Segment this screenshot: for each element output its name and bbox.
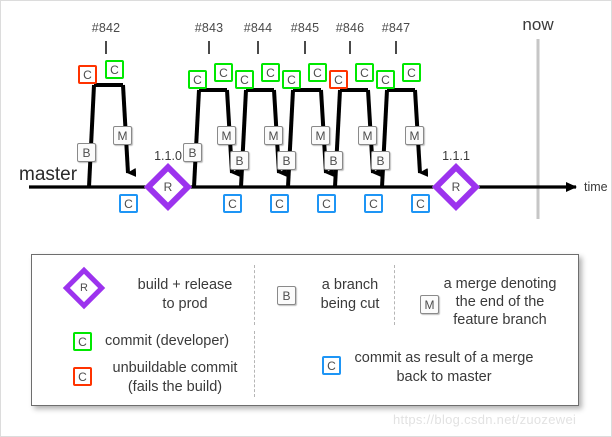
purple-diamond-letter: R [80,282,88,294]
branch-cut-node[interactable]: B [230,151,249,170]
branch-cut-node[interactable]: B [324,151,343,170]
commit-node[interactable]: C [308,63,327,82]
master-merge-commit[interactable]: C [223,194,242,213]
commit-node[interactable]: C [282,70,301,89]
merge-node[interactable]: M [358,126,377,145]
build-tick-843 [208,41,210,54]
commit-node[interactable]: C [188,70,207,89]
merge-node[interactable]: M [264,126,283,145]
master-merge-commit[interactable]: C [317,194,336,213]
merge-node[interactable]: M [405,126,424,145]
build-label-847: #847 [382,21,411,35]
branch-cut-node[interactable]: B [183,143,202,162]
commit-node[interactable]: C [214,63,233,82]
legend-label-merge-commit-line1: commit as result of a merge [324,350,564,367]
master-merge-commit[interactable]: C [119,194,138,213]
legend-label-branch-line1: a branch [290,277,410,294]
commit-node[interactable]: C [105,60,124,79]
diagram-canvas: #842 #843 #844 #845 #846 #847 now [0,0,612,437]
master-merge-commit[interactable]: C [364,194,383,213]
legend-label-release-line1: build + release [105,277,265,294]
commit-node-unbuildable[interactable]: C [329,70,348,89]
build-tick-847 [395,41,397,54]
release-letter: R [452,180,461,194]
branch-cut-node[interactable]: B [371,151,390,170]
legend-label-merge-line3: feature branch [405,312,595,329]
legend-label-unbuildable-line2: (fails the build) [85,379,265,396]
build-label-842: #842 [92,21,121,35]
legend-panel: R build + release to prod C commit (deve… [31,254,579,406]
legend-label-merge-line2: the end of the [405,294,595,311]
commit-node-unbuildable[interactable]: C [78,65,97,84]
green-commit-icon: C [73,332,92,351]
legend-label-release-line2: to prod [105,296,265,313]
commit-node[interactable]: C [355,63,374,82]
merge-node[interactable]: M [113,126,132,145]
now-label: now [522,15,553,35]
watermark: https://blog.csdn.net/zuozewei [393,412,576,427]
build-tick-845 [304,41,306,54]
commit-node[interactable]: C [402,63,421,82]
build-tick-844 [257,41,259,54]
commit-node[interactable]: C [261,63,280,82]
merge-node[interactable]: M [311,126,330,145]
now-line [537,39,540,219]
legend-label-commit: commit (developer) [105,333,229,350]
time-axis-label: time [584,180,608,194]
branch-cut-node[interactable]: B [77,143,96,162]
build-label-844: #844 [244,21,273,35]
merge-node[interactable]: M [217,126,236,145]
build-label-843: #843 [195,21,224,35]
release-version-label: 1.1.1 [442,149,470,163]
legend-label-branch-line2: being cut [290,296,410,313]
master-merge-commit[interactable]: C [270,194,289,213]
build-tick-846 [349,41,351,54]
legend-divider-3 [394,265,395,325]
release-letter: R [164,180,173,194]
release-version-label: 1.1.0 [154,149,182,163]
build-tick-842 [105,41,107,54]
build-label-846: #846 [336,21,365,35]
legend-label-unbuildable-line1: unbuildable commit [85,360,265,377]
master-merge-commit[interactable]: C [411,194,430,213]
commit-node[interactable]: C [376,70,395,89]
commit-node[interactable]: C [235,70,254,89]
branch-cut-node[interactable]: B [277,151,296,170]
build-label-845: #845 [291,21,320,35]
master-label: master [19,164,77,186]
legend-divider-1 [254,265,255,325]
legend-label-merge-line1: a merge denoting [405,276,595,293]
legend-label-merge-commit-line2: back to master [324,369,564,386]
